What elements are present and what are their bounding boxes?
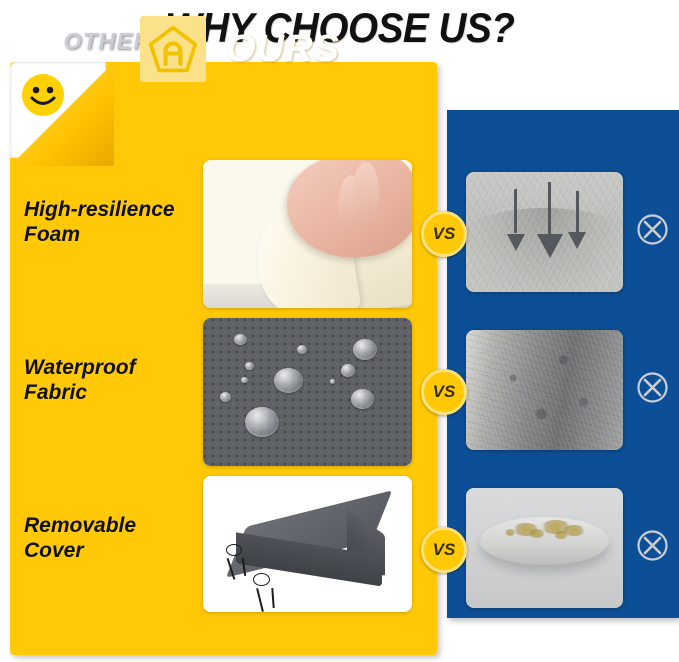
circle-x-icon: [636, 371, 669, 404]
ours-product-image: [203, 476, 412, 612]
ours-product-image: [203, 160, 412, 308]
others-comparison-image: [466, 172, 623, 292]
vs-badge: VS: [421, 369, 467, 415]
ours-product-image: [203, 318, 412, 466]
ours-label: OURS: [226, 28, 340, 71]
feature-label: Waterproof Fabric: [24, 356, 199, 406]
circle-x-icon: [636, 213, 669, 246]
circle-x-icon: [636, 529, 669, 562]
vs-badge: VS: [421, 527, 467, 573]
comparison-row: High-resilience Foam VS: [0, 160, 679, 310]
others-comparison-image: [466, 488, 623, 608]
comparison-row: Waterproof Fabric VS: [0, 318, 679, 468]
house-pentagon-logo-icon: [140, 16, 206, 82]
comparison-row: Removable Cover VS: [0, 476, 679, 626]
feature-label: Removable Cover: [24, 514, 199, 564]
others-comparison-image: [466, 330, 623, 450]
vs-badge: VS: [421, 211, 467, 257]
feature-label: High-resilience Foam: [24, 198, 199, 248]
ours-header: OURS: [0, 10, 427, 88]
